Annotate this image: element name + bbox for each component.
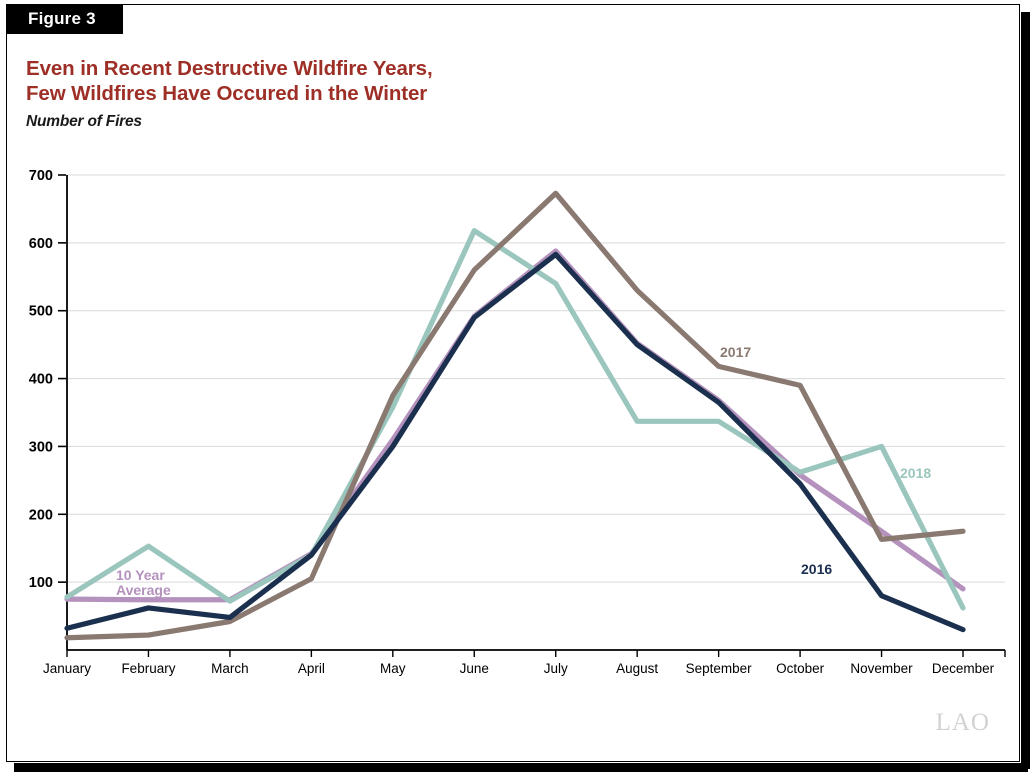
chart-subtitle: Number of Fires xyxy=(26,113,142,131)
frame-shadow-right xyxy=(1021,12,1030,769)
frame-shadow-bottom xyxy=(14,763,1028,772)
figure-root: Figure 3 Even in Recent Destructive Wild… xyxy=(0,0,1032,779)
page-title: Even in Recent Destructive Wildfire Year… xyxy=(26,56,926,106)
figure-frame xyxy=(6,4,1020,762)
figure-number-tag: Figure 3 xyxy=(6,4,123,34)
title-line-2: Few Wildfires Have Occured in the Winter xyxy=(26,81,926,106)
lao-logo: LAO xyxy=(936,709,990,737)
title-line-1: Even in Recent Destructive Wildfire Year… xyxy=(26,56,926,81)
